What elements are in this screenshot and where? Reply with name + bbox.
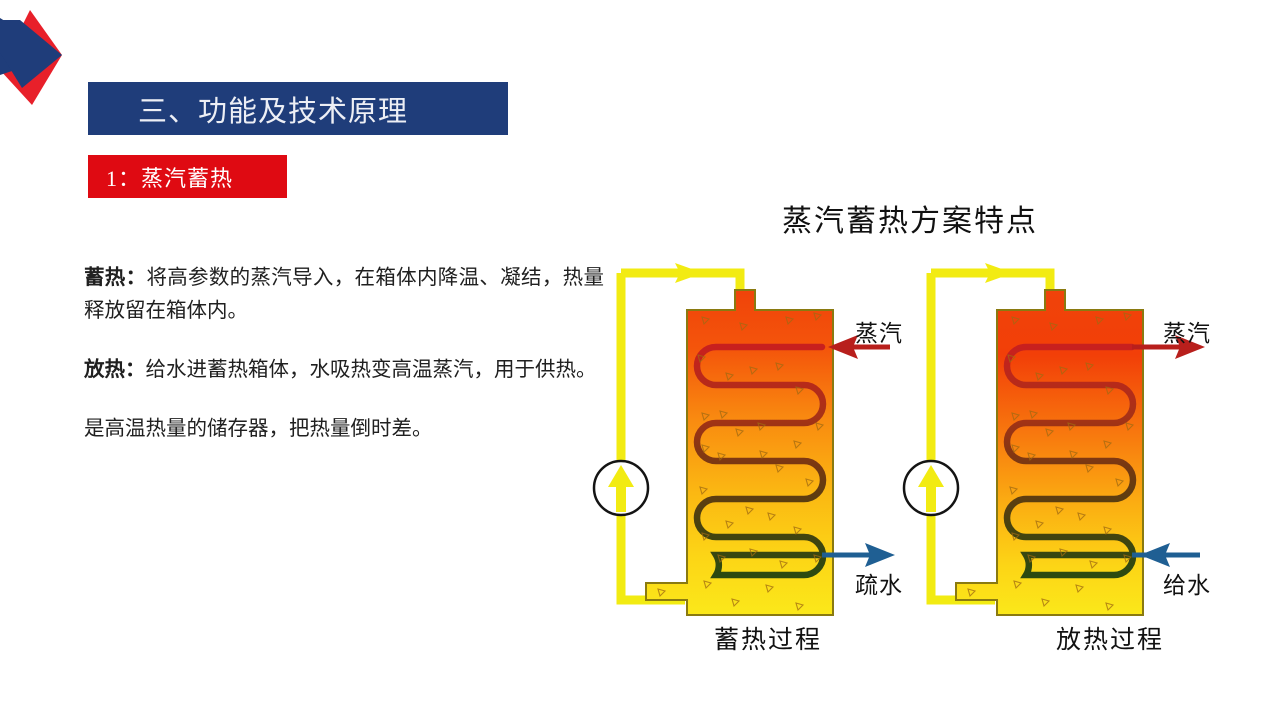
storage-tank-left	[646, 290, 833, 615]
storage-tank-right	[956, 290, 1143, 615]
paragraph-storage-lead: 蓄热：	[84, 267, 146, 289]
paragraph-release-lead: 放热：	[84, 359, 146, 381]
slide-canvas: 三、功能及技术原理 1：蒸汽蓄热 蓄热：将高参数的蒸汽导入，在箱体内降温、凝结，…	[0, 0, 1280, 720]
topic-badge-text: 1：蒸汽蓄热	[88, 161, 233, 193]
release-process-unit	[904, 263, 1205, 615]
corporate-arrow-logo	[0, 0, 78, 105]
pump-left	[594, 461, 648, 515]
paragraph-storage-text: 将高参数的蒸汽导入，在箱体内降温、凝结，热量释放留在箱体内。	[84, 267, 604, 322]
topic-badge: 1：蒸汽蓄热	[88, 155, 287, 198]
pump-right	[904, 461, 958, 515]
storage-process-unit	[594, 263, 895, 615]
label-steam-right: 蒸汽	[1163, 314, 1211, 348]
label-feedwater-right: 给水	[1163, 566, 1211, 600]
paragraph-storage: 蓄热：将高参数的蒸汽导入，在箱体内降温、凝结，热量释放留在箱体内。	[84, 262, 604, 328]
caption-release-process: 放热过程	[1010, 620, 1210, 656]
section-title-text: 三、功能及技术原理	[88, 88, 408, 130]
caption-storage-process: 蓄热过程	[668, 620, 868, 656]
body-text-block: 蓄热：将高参数的蒸汽导入，在箱体内降温、凝结，热量释放留在箱体内。 放热：给水进…	[84, 262, 604, 446]
label-steam-left: 蒸汽	[855, 314, 903, 348]
section-title-bar: 三、功能及技术原理	[88, 82, 508, 135]
paragraph-summary: 是高温热量的储存器，把热量倒时差。	[84, 413, 604, 446]
paragraph-release: 放热：给水进蓄热箱体，水吸热变高温蒸汽，用于供热。	[84, 354, 604, 387]
diagram-title: 蒸汽蓄热方案特点	[700, 196, 1120, 240]
paragraph-release-text: 给水进蓄热箱体，水吸热变高温蒸汽，用于供热。	[146, 359, 597, 381]
label-drain-left: 疏水	[855, 566, 903, 600]
paragraph-summary-text: 是高温热量的储存器，把热量倒时差。	[84, 418, 433, 440]
